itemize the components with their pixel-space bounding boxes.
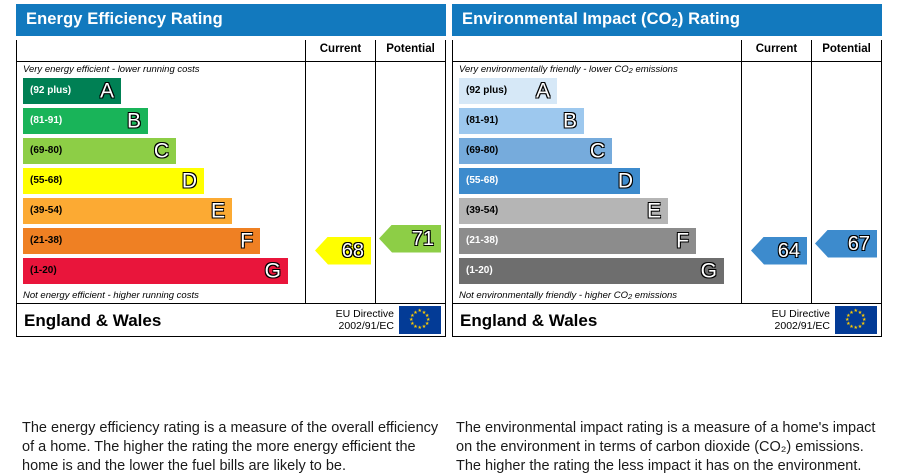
environmental-title-tail: ) Rating	[678, 10, 740, 28]
energy-band-f: (21-38)F	[23, 228, 260, 254]
energy-band-range-e: (39-54)	[30, 206, 62, 216]
energy-table-header-row: Current Potential	[17, 40, 445, 62]
environmental-footer-region: England & Wales	[453, 312, 772, 329]
energy-band-e: (39-54)E	[23, 198, 232, 224]
energy-header-potential: Potential	[375, 40, 445, 61]
energy-band-letter-a: A	[100, 80, 114, 101]
epc-certificate-page: Energy Efficiency Rating Current Potenti…	[0, 0, 919, 476]
environmental-top-caption-post: emissions	[633, 64, 678, 75]
energy-band-letter-c: C	[154, 140, 169, 161]
environmental-potential-rating-badge: 67	[815, 230, 877, 258]
environmental-bottom-caption-sub: 2	[628, 292, 632, 301]
eu-star-icon: ★	[858, 325, 862, 330]
environmental-band-letter-g: G	[701, 260, 717, 281]
energy-bottom-caption: Not energy efficient - higher running co…	[17, 288, 305, 303]
eu-star-icon: ★	[418, 326, 422, 331]
eu-star-icon: ★	[854, 326, 858, 331]
eu-star-icon: ★	[409, 318, 413, 323]
energy-table-body-row: Very energy efficient - lower running co…	[17, 62, 445, 305]
environmental-current-rating-badge: 64	[751, 237, 807, 265]
environmental-header-spacer	[453, 40, 741, 61]
environmental-band-range-c: (69-80)	[466, 146, 498, 156]
energy-band-b: (81-91)B	[23, 108, 148, 134]
environmental-potential-column: 67	[811, 62, 881, 304]
eu-star-icon: ★	[846, 322, 850, 327]
energy-band-a: (92 plus)A	[23, 78, 121, 104]
environmental-title-subscript: 2	[672, 17, 678, 29]
environmental-top-caption-sub: 2	[629, 66, 633, 75]
environmental-chart-title: Environmental Impact (CO2) Rating	[452, 4, 882, 36]
environmental-band-list: (92 plus)A(81-91)B(69-80)C(55-68)D(39-54…	[453, 77, 741, 284]
environmental-top-caption: Very environmentally friendly - lower CO…	[453, 62, 741, 77]
environmental-table-body-row: Very environmentally friendly - lower CO…	[453, 62, 881, 305]
energy-header-spacer	[17, 40, 305, 61]
eu-star-icon: ★	[845, 318, 849, 323]
environmental-band-a: (92 plus)A	[459, 78, 557, 104]
energy-band-c: (69-80)C	[23, 138, 176, 164]
environmental-chart-table: Current Potential Very environmentally f…	[452, 40, 882, 338]
eu-star-icon: ★	[410, 322, 414, 327]
energy-current-column: 68	[305, 62, 375, 304]
energy-band-range-b: (81-91)	[30, 116, 62, 126]
environmental-chart-title-text: Environmental Impact (CO	[462, 10, 672, 28]
environmental-band-letter-b: B	[563, 110, 577, 131]
environmental-band-f: (21-38)F	[459, 228, 696, 254]
energy-footer-region: England & Wales	[17, 312, 336, 329]
energy-top-caption: Very energy efficient - lower running co…	[17, 62, 305, 77]
environmental-band-b: (81-91)B	[459, 108, 584, 134]
energy-band-range-d: (55-68)	[30, 176, 62, 186]
energy-chart-title: Energy Efficiency Rating	[16, 4, 446, 36]
environmental-table-header-row: Current Potential	[453, 40, 881, 62]
environmental-description: The environmental impact rating is a mea…	[456, 419, 886, 476]
energy-efficiency-chart: Energy Efficiency Rating Current Potenti…	[16, 4, 446, 337]
energy-band-range-c: (69-80)	[30, 146, 62, 156]
environmental-band-c: (69-80)C	[459, 138, 612, 164]
environmental-band-range-b: (81-91)	[466, 116, 498, 126]
energy-band-range-f: (21-38)	[30, 236, 62, 246]
energy-potential-rating-badge: 71	[379, 225, 441, 253]
energy-current-rating-badge: 68	[315, 237, 371, 265]
environmental-bottom-caption: Not environmentally friendly - higher CO…	[453, 288, 741, 303]
eu-star-icon: ★	[422, 325, 426, 330]
environmental-band-letter-c: C	[590, 140, 605, 161]
eu-star-icon: ★	[413, 311, 417, 316]
energy-potential-column: 71	[375, 62, 445, 304]
environmental-header-potential: Potential	[811, 40, 881, 61]
energy-footer-directive: EU Directive 2002/91/EC	[336, 308, 399, 332]
energy-band-letter-e: E	[211, 200, 225, 221]
energy-description: The energy efficiency rating is a measur…	[22, 419, 447, 476]
environmental-footer-directive: EU Directive 2002/91/EC	[772, 308, 835, 332]
energy-chart-title-text: Energy Efficiency Rating	[26, 10, 223, 28]
environmental-band-letter-d: D	[618, 170, 633, 191]
environmental-top-caption-pre: Very environmentally friendly - lower CO	[459, 64, 629, 75]
environmental-current-column: 64	[741, 62, 811, 304]
energy-band-letter-d: D	[182, 170, 197, 191]
eu-star-icon: ★	[849, 311, 853, 316]
environmental-band-e: (39-54)E	[459, 198, 668, 224]
environmental-footer-row: England & Wales EU Directive 2002/91/EC …	[453, 304, 881, 336]
energy-band-g: (1-20)G	[23, 258, 288, 284]
environmental-band-letter-f: F	[676, 230, 689, 251]
environmental-band-g: (1-20)G	[459, 258, 724, 284]
environmental-bottom-caption-post: emissions	[632, 290, 677, 301]
energy-band-range-a: (92 plus)	[30, 86, 71, 96]
environmental-band-letter-a: A	[536, 80, 550, 101]
energy-band-range-g: (1-20)	[30, 266, 57, 276]
eu-flag-icon: ★★★★★★★★★★★★	[399, 306, 441, 334]
environmental-band-range-a: (92 plus)	[466, 86, 507, 96]
environmental-impact-chart: Environmental Impact (CO2) Rating Curren…	[452, 4, 882, 337]
energy-band-d: (55-68)D	[23, 168, 204, 194]
energy-header-current: Current	[305, 40, 375, 61]
energy-band-letter-g: G	[265, 260, 281, 281]
environmental-band-range-d: (55-68)	[466, 176, 498, 186]
environmental-band-range-f: (21-38)	[466, 236, 498, 246]
energy-directive-line1: EU Directive	[336, 308, 394, 320]
environmental-band-letter-e: E	[647, 200, 661, 221]
energy-band-letter-f: F	[240, 230, 253, 251]
environmental-directive-line2: 2002/91/EC	[772, 320, 830, 332]
energy-bars-column: Very energy efficient - lower running co…	[17, 62, 305, 304]
environmental-directive-line1: EU Directive	[772, 308, 830, 320]
environmental-band-range-g: (1-20)	[466, 266, 493, 276]
environmental-bottom-caption-pre: Not environmentally friendly - higher CO	[459, 290, 628, 301]
environmental-bars-column: Very environmentally friendly - lower CO…	[453, 62, 741, 304]
energy-band-list: (92 plus)A(81-91)B(69-80)C(55-68)D(39-54…	[17, 77, 305, 284]
energy-directive-line2: 2002/91/EC	[336, 320, 394, 332]
energy-band-letter-b: B	[127, 110, 141, 131]
environmental-band-range-e: (39-54)	[466, 206, 498, 216]
eu-flag-icon: ★★★★★★★★★★★★	[835, 306, 877, 334]
environmental-header-current: Current	[741, 40, 811, 61]
energy-footer-row: England & Wales EU Directive 2002/91/EC …	[17, 304, 445, 336]
energy-chart-table: Current Potential Very energy efficient …	[16, 40, 446, 338]
environmental-band-d: (55-68)D	[459, 168, 640, 194]
